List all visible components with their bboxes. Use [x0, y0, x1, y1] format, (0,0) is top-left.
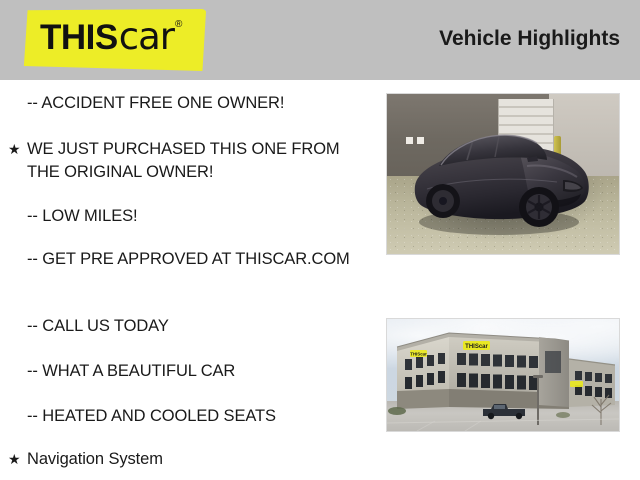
brand-logo-text: THIS car ® — [40, 18, 181, 62]
list-item: ★ Navigation System — [8, 448, 368, 471]
page-title: Vehicle Highlights — [439, 27, 620, 51]
vehicle-highlights-list: -- ACCIDENT FREE ONE OWNER! ★ WE JUST PU… — [0, 80, 372, 480]
list-item: ★ WE JUST PURCHASED THIS ONE FROM THE OR… — [8, 138, 368, 184]
dealership-photo-scene: THIScar THIScar — [387, 319, 619, 431]
list-item: -- ACCIDENT FREE ONE OWNER! — [8, 92, 368, 115]
list-item: -- CALL US TODAY — [8, 315, 368, 338]
svg-text:THIScar: THIScar — [410, 351, 427, 356]
page-header: THIS car ® Vehicle Highlights — [0, 0, 640, 80]
list-item-label: -- GET PRE APPROVED AT THISCAR.COM — [27, 248, 350, 271]
vehicle-photo[interactable] — [386, 93, 620, 255]
vehicle-photo-scene — [387, 94, 619, 254]
star-icon: ★ — [8, 448, 27, 470]
list-item: -- LOW MILES! — [8, 205, 368, 228]
list-item-label: -- LOW MILES! — [27, 205, 138, 228]
brand-logo-this: THIS — [40, 20, 118, 55]
tesla-model-3-illustration — [387, 94, 620, 255]
list-item-label: -- WHAT A BEAUTIFUL CAR — [27, 360, 235, 383]
list-item-label: WE JUST PURCHASED THIS ONE FROM THE ORIG… — [27, 138, 368, 184]
registered-trademark-icon: ® — [175, 20, 182, 30]
list-item-label: -- HEATED AND COOLED SEATS — [27, 405, 276, 428]
list-item: -- HEATED AND COOLED SEATS — [8, 405, 368, 428]
list-item-label: Navigation System — [27, 448, 163, 471]
list-item-label: -- ACCIDENT FREE ONE OWNER! — [27, 92, 284, 115]
list-item-label: -- CALL US TODAY — [27, 315, 169, 338]
list-item: -- WHAT A BEAUTIFUL CAR — [8, 360, 368, 383]
dealership-photo[interactable]: THIScar THIScar — [386, 318, 620, 432]
brand-logo-car: car — [119, 18, 174, 55]
list-item: -- GET PRE APPROVED AT THISCAR.COM — [8, 248, 368, 271]
dealership-building-illustration: THIScar THIScar — [387, 319, 620, 432]
star-icon: ★ — [8, 138, 27, 160]
svg-text:THIScar: THIScar — [465, 344, 488, 350]
content-area: -- ACCIDENT FREE ONE OWNER! ★ WE JUST PU… — [0, 80, 640, 480]
